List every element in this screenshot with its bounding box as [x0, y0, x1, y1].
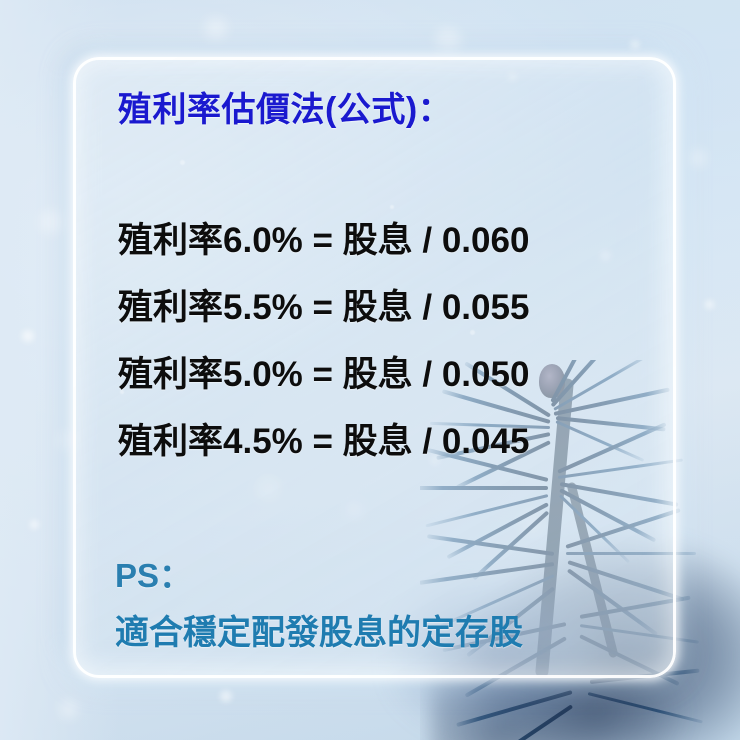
formula-row: 殖利率5.5% = 股息 / 0.055 — [118, 274, 658, 341]
poster-canvas: 殖利率估價法(公式)： 殖利率6.0% = 股息 / 0.060 殖利率5.5%… — [0, 0, 740, 740]
page-title: 殖利率估價法(公式)： — [118, 82, 452, 131]
ps-label: PS： — [115, 549, 192, 597]
formula-list: 殖利率6.0% = 股息 / 0.060 殖利率5.5% = 股息 / 0.05… — [118, 207, 658, 475]
formula-row: 殖利率5.0% = 股息 / 0.050 — [118, 341, 658, 408]
formula-row: 殖利率6.0% = 股息 / 0.060 — [118, 207, 658, 274]
ps-note: 適合穩定配發股息的定存股 — [115, 605, 523, 654]
formula-row: 殖利率4.5% = 股息 / 0.045 — [118, 408, 658, 475]
card-content: 殖利率估價法(公式)： 殖利率6.0% = 股息 / 0.060 殖利率5.5%… — [73, 57, 670, 672]
